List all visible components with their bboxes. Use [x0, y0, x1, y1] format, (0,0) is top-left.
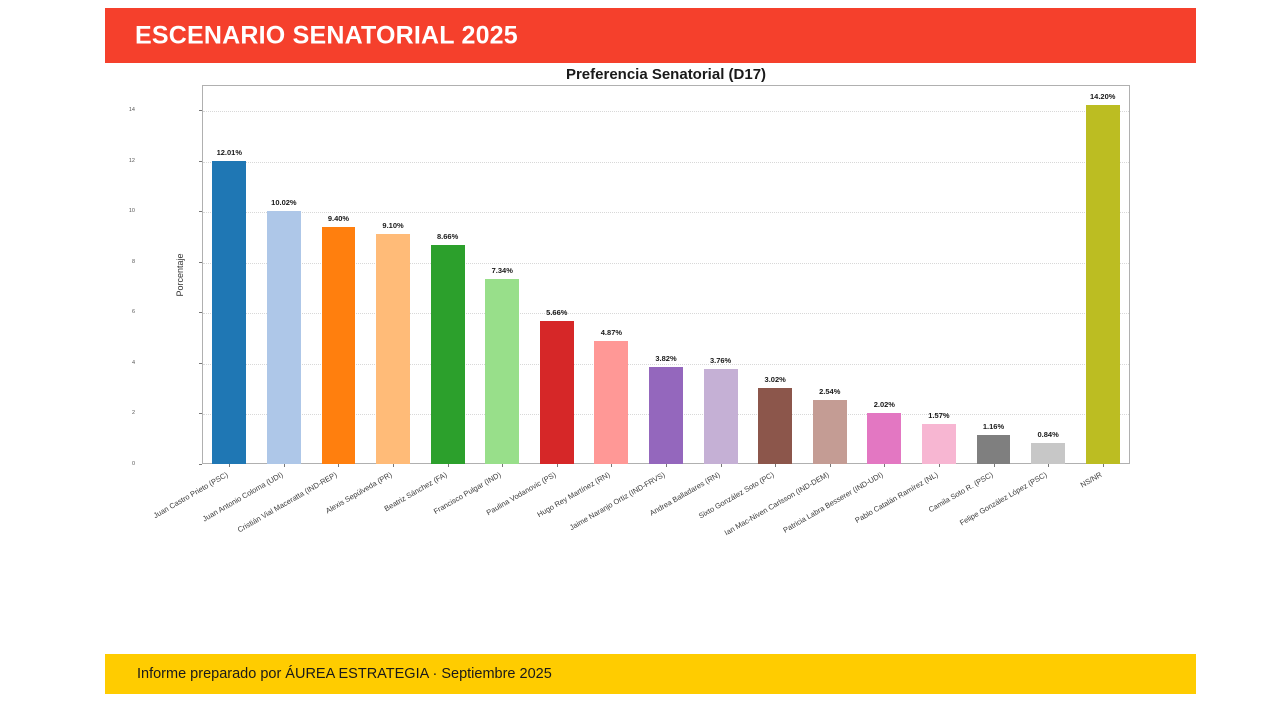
x-tick-mark — [557, 464, 558, 467]
bar-chart-figure: Preferencia Senatorial (D17) Porcentaje … — [0, 63, 1270, 623]
bar-value-label: 0.84% — [1037, 430, 1058, 439]
bar-slot[interactable]: 3.82% — [649, 85, 683, 464]
bar-slot[interactable]: 5.66% — [540, 85, 574, 464]
bar[interactable] — [376, 234, 410, 464]
x-tick-mark — [830, 464, 831, 467]
bar-slot[interactable]: 14.20% — [1086, 85, 1120, 464]
bar-slot[interactable]: 10.02% — [267, 85, 301, 464]
bar-value-label: 3.82% — [655, 354, 676, 363]
x-tick-mark — [884, 464, 885, 467]
bar[interactable] — [1086, 105, 1120, 464]
bar-value-label: 3.02% — [765, 375, 786, 384]
bar-value-label: 1.57% — [928, 411, 949, 420]
bar-slot[interactable]: 2.02% — [867, 85, 901, 464]
bar[interactable] — [431, 245, 465, 464]
bar-slot[interactable]: 7.34% — [485, 85, 519, 464]
x-tick-mark — [611, 464, 612, 467]
bar-value-label: 8.66% — [437, 232, 458, 241]
x-tick-mark — [338, 464, 339, 467]
bar-value-label: 3.76% — [710, 356, 731, 365]
y-tick-mark — [199, 464, 202, 465]
x-axis-tick-label: NS/NR — [1078, 470, 1103, 489]
x-tick-mark — [1048, 464, 1049, 467]
x-tick-mark — [448, 464, 449, 467]
bar-value-label: 9.10% — [382, 221, 403, 230]
bar[interactable] — [322, 227, 356, 465]
y-axis-label: Porcentaje — [175, 253, 185, 296]
chart-title: Preferencia Senatorial (D17) — [0, 66, 1270, 83]
bar-slot[interactable]: 9.10% — [376, 85, 410, 464]
bar[interactable] — [1031, 443, 1065, 464]
y-tick-label: 0 — [118, 461, 138, 467]
bar-value-label: 12.01% — [217, 148, 242, 157]
bar[interactable] — [813, 400, 847, 464]
bar-slot[interactable]: 1.57% — [922, 85, 956, 464]
x-tick-mark — [775, 464, 776, 467]
bar-slot[interactable]: 8.66% — [431, 85, 465, 464]
y-tick-label: 2 — [118, 410, 138, 416]
bar[interactable] — [704, 369, 738, 464]
bar[interactable] — [540, 321, 574, 464]
x-axis-tick-label: Cristián Vial Maceratta (IND-REP) — [236, 470, 339, 534]
bar-value-label: 10.02% — [271, 198, 296, 207]
x-tick-mark — [939, 464, 940, 467]
bar[interactable] — [977, 435, 1011, 464]
bar-value-label: 7.34% — [492, 266, 513, 275]
y-tick-label: 10 — [118, 208, 138, 214]
bar-value-label: 1.16% — [983, 422, 1004, 431]
y-tick-label: 14 — [118, 107, 138, 113]
bar-slot[interactable]: 0.84% — [1031, 85, 1065, 464]
y-tick-label: 12 — [118, 158, 138, 164]
bars-layer: 12.01%10.02%9.40%9.10%8.66%7.34%5.66%4.8… — [202, 85, 1130, 464]
bar-slot[interactable]: 3.02% — [758, 85, 792, 464]
header-banner: ESCENARIO SENATORIAL 2025 — [105, 8, 1196, 63]
bar[interactable] — [594, 341, 628, 464]
x-tick-mark — [284, 464, 285, 467]
x-tick-mark — [994, 464, 995, 467]
bar-slot[interactable]: 12.01% — [212, 85, 246, 464]
x-tick-mark — [1103, 464, 1104, 467]
y-tick-label: 4 — [118, 360, 138, 366]
x-tick-mark — [721, 464, 722, 467]
bar[interactable] — [922, 424, 956, 464]
bar-value-label: 5.66% — [546, 308, 567, 317]
bar[interactable] — [212, 161, 246, 464]
x-tick-mark — [229, 464, 230, 467]
x-axis-tick-label: Ian Mac-Niven Carlsson (IND-DEM) — [723, 470, 831, 537]
bar[interactable] — [485, 279, 519, 464]
bar-value-label: 2.54% — [819, 387, 840, 396]
bar-value-label: 4.87% — [601, 328, 622, 337]
bar-value-label: 9.40% — [328, 214, 349, 223]
bar[interactable] — [649, 367, 683, 464]
bar[interactable] — [867, 413, 901, 464]
bar-value-label: 14.20% — [1090, 92, 1115, 101]
bar[interactable] — [267, 211, 301, 464]
bar-slot[interactable]: 9.40% — [322, 85, 356, 464]
x-tick-mark — [666, 464, 667, 467]
x-axis-tick-label: Jaime Naranjo Ortiz (IND-FRVS) — [568, 470, 667, 532]
page-title: ESCENARIO SENATORIAL 2025 — [135, 21, 518, 50]
bar-value-label: 2.02% — [874, 400, 895, 409]
slide-canvas: ESCENARIO SENATORIAL 2025 Preferencia Se… — [0, 0, 1270, 720]
bar-slot[interactable]: 4.87% — [594, 85, 628, 464]
bar[interactable] — [758, 388, 792, 464]
y-tick-label: 6 — [118, 309, 138, 315]
x-axis-tick-label: Patricia Labra Besserer (IND-UDI) — [782, 470, 885, 535]
x-tick-mark — [393, 464, 394, 467]
bar-slot[interactable]: 2.54% — [813, 85, 847, 464]
bar-slot[interactable]: 1.16% — [977, 85, 1011, 464]
x-tick-mark — [502, 464, 503, 467]
footer-note: Informe preparado por ÁUREA ESTRATEGIA ·… — [137, 666, 552, 682]
x-axis-tick-label: Felipe González López (PSC) — [958, 470, 1048, 527]
bar-slot[interactable]: 3.76% — [704, 85, 738, 464]
y-tick-label: 8 — [118, 259, 138, 265]
footer-banner: Informe preparado por ÁUREA ESTRATEGIA ·… — [105, 654, 1196, 694]
